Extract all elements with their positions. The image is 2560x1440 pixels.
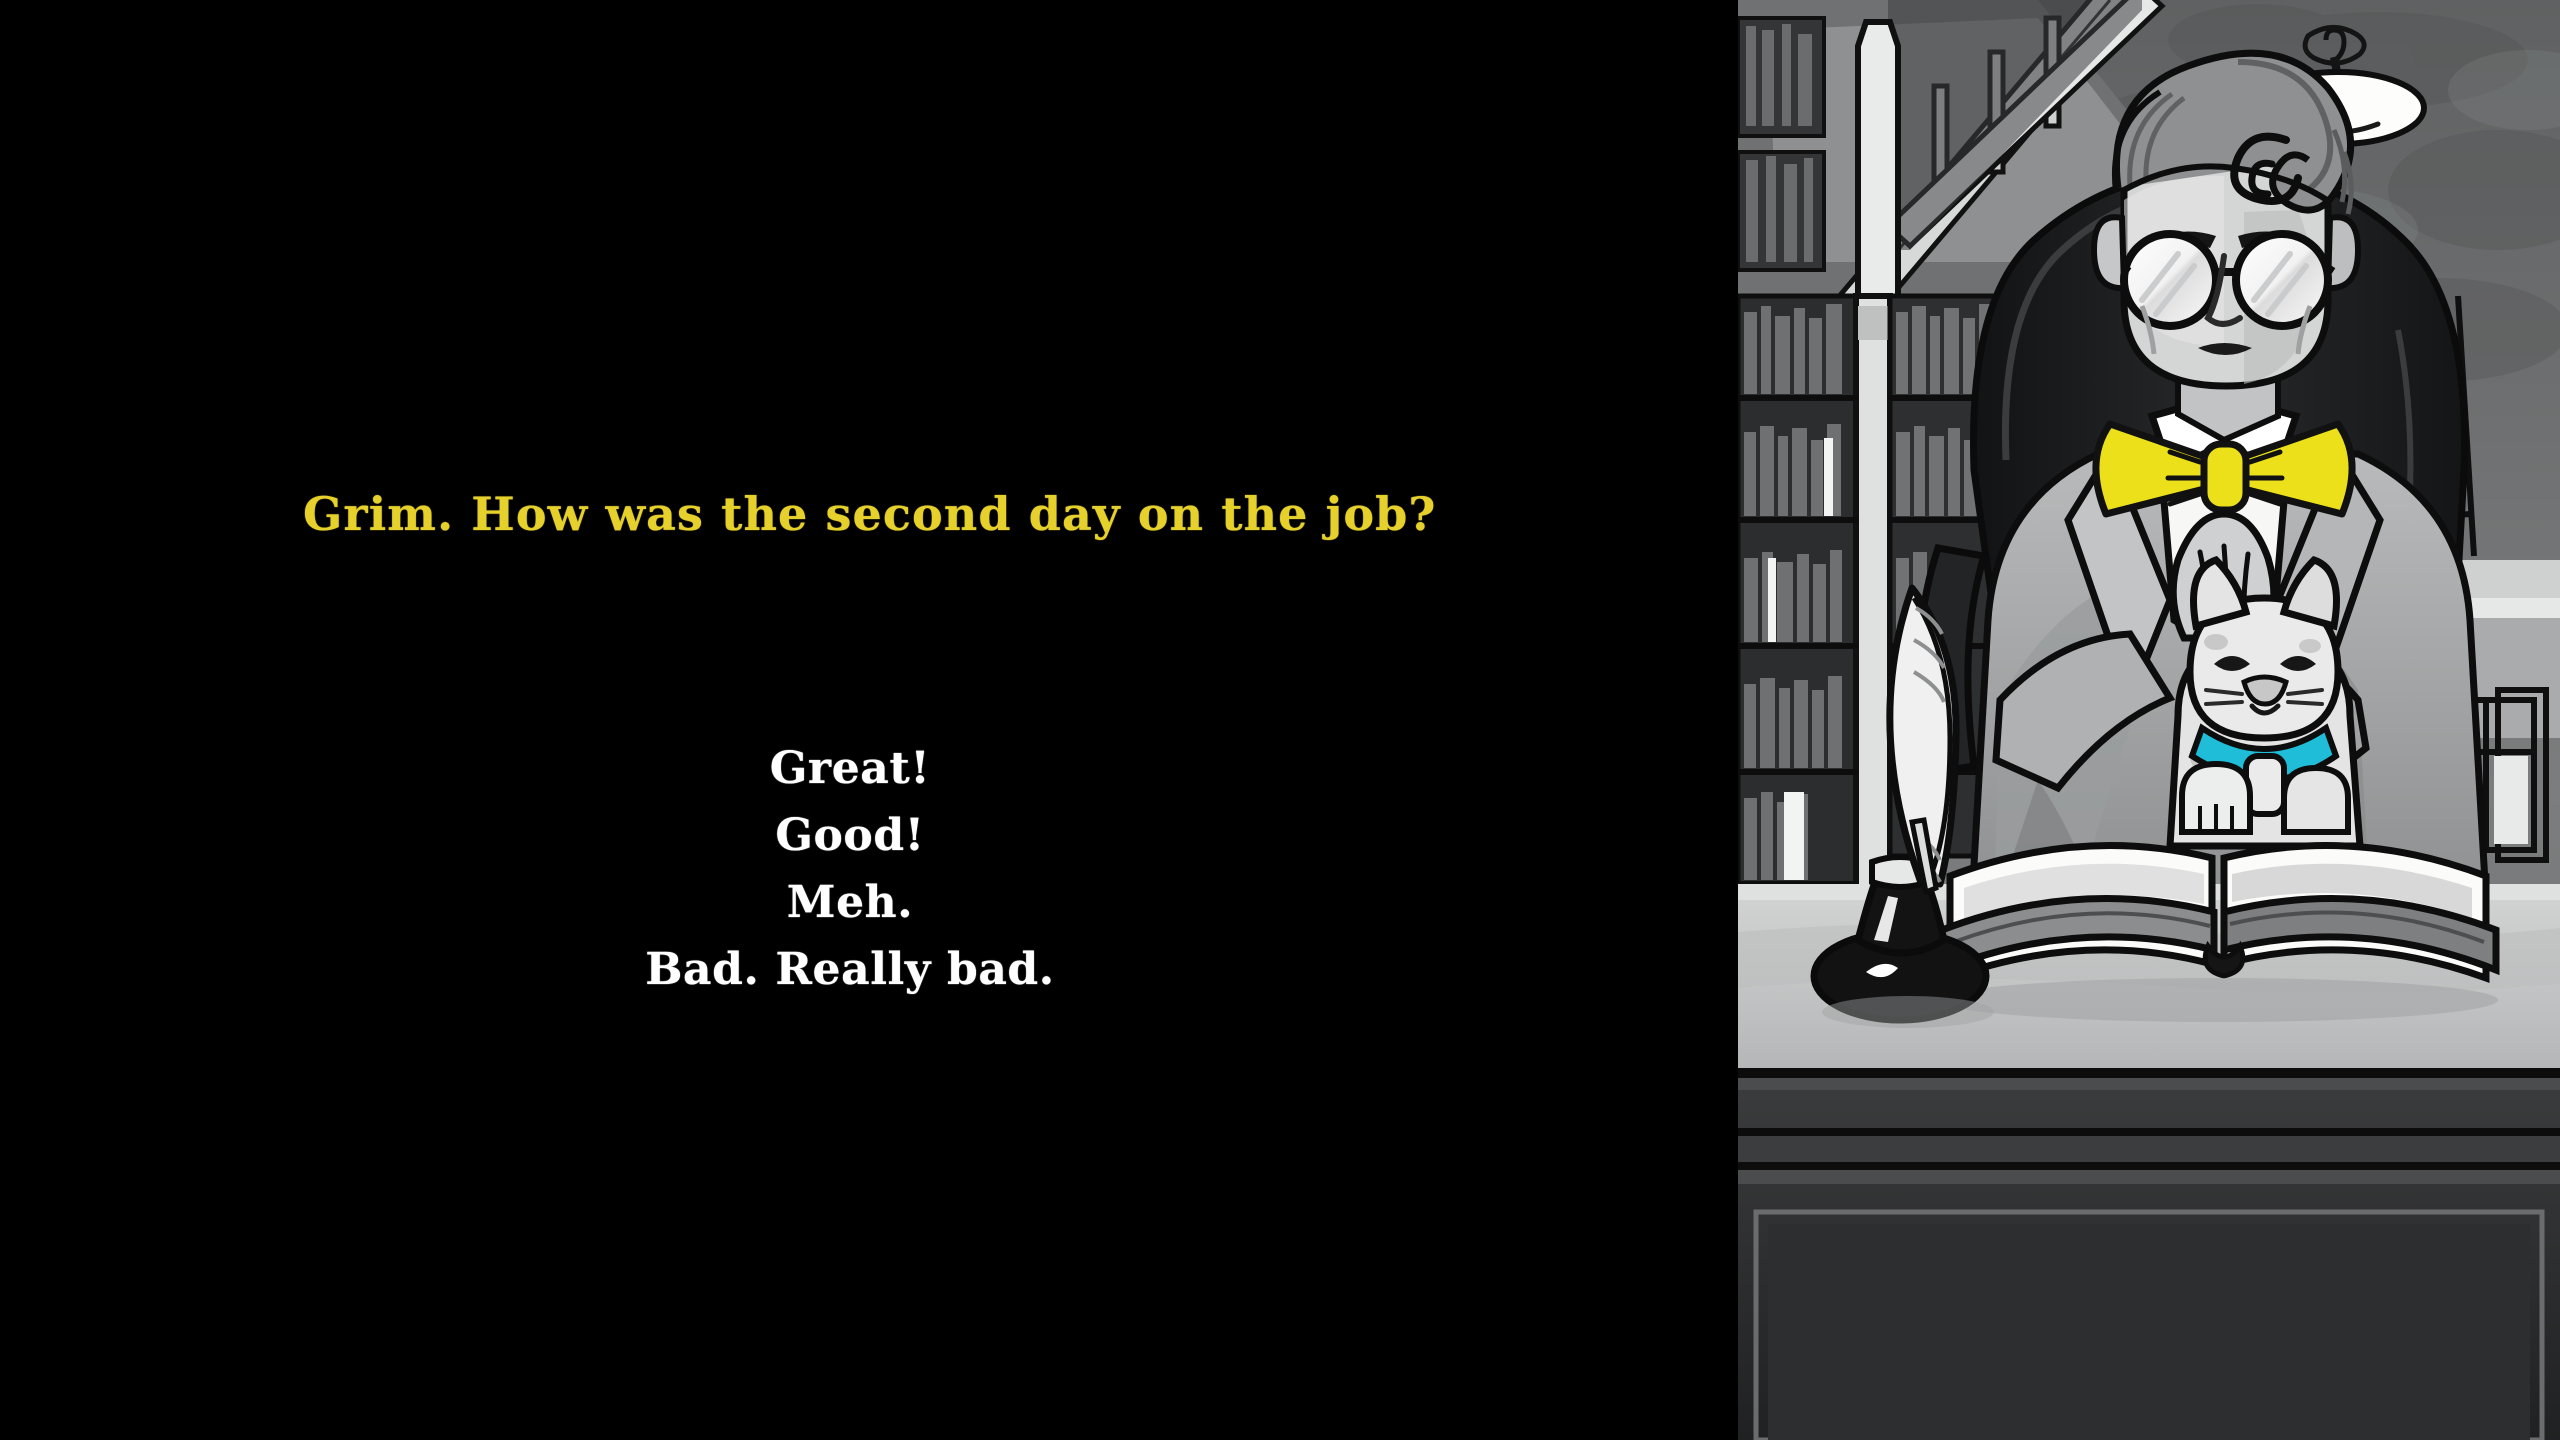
dialogue-choice-list: Great! Good! Meh. Bad. Really bad.: [0, 735, 1700, 1003]
dialogue-choice-good[interactable]: Good!: [0, 802, 1700, 869]
character-artwork-panel: [1738, 0, 2560, 1440]
dialogue-prompt-text: Grim. How was the second day on the job?: [303, 487, 1437, 541]
dialogue-choice-great[interactable]: Great!: [0, 735, 1700, 802]
visual-novel-screen: Grim. How was the second day on the job?…: [0, 0, 2560, 1440]
cat: [2170, 560, 2360, 846]
dialogue-panel: Grim. How was the second day on the job?…: [0, 0, 1738, 1440]
dialogue-choice-bad[interactable]: Bad. Really bad.: [0, 936, 1700, 1003]
scene-illustration: [1738, 0, 2560, 1440]
dialogue-choice-meh[interactable]: Meh.: [0, 869, 1700, 936]
